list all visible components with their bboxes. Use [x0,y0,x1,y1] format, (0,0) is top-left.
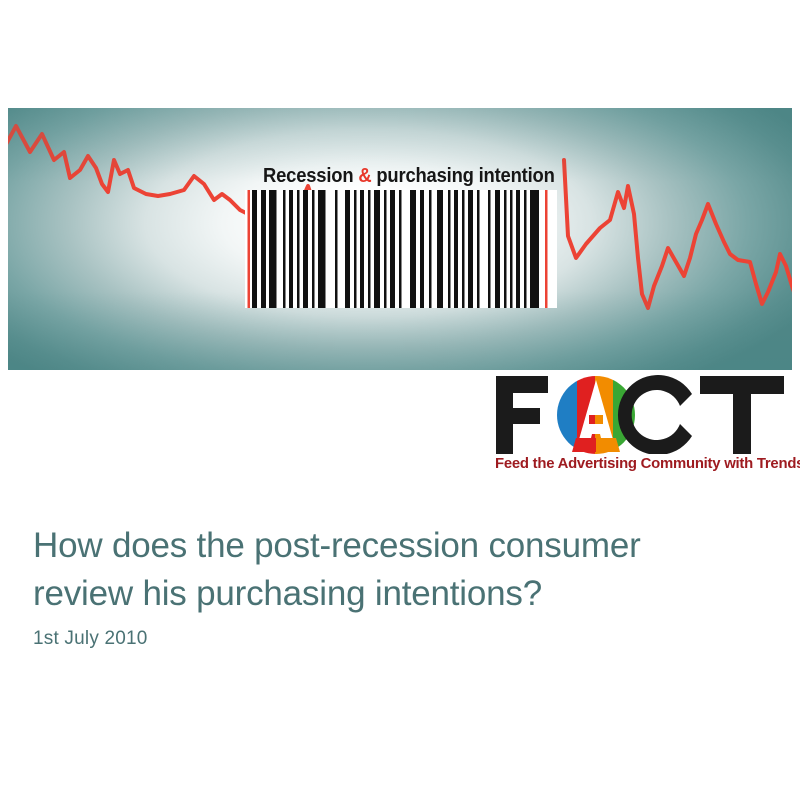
fact-logo-tagline: Feed the Advertising Community with Tren… [495,455,787,472]
logo-letter-t-icon [700,376,784,454]
page-title-line-2: review his purchasing intentions? [33,570,763,618]
barcode-label-suffix: purchasing intention [371,165,554,187]
barcode-guard-red-right [545,190,548,308]
logo-letter-c-icon [618,375,692,454]
page-title: How does the post-recession consumer rev… [33,522,763,619]
logo-letter-f-icon [496,376,548,454]
page-date: 1st July 2010 [33,628,148,650]
barcode-bars [245,190,557,308]
barcode-label: Recession & purchasing intention [263,163,555,189]
fact-logo: Feed the Advertising Community with Tren… [492,372,792,477]
barcode-guard-red-left [248,190,251,308]
title-banner: Recession & purchasing intention [8,108,792,370]
barcode-label-ampersand: & [358,165,371,187]
barcode-graphic: Recession & purchasing intention [245,163,557,311]
fact-logo-mark [492,372,792,454]
barcode-label-prefix: Recession [263,165,358,187]
page-title-line-1: How does the post-recession consumer [33,522,763,570]
chart-line-right [564,160,792,308]
